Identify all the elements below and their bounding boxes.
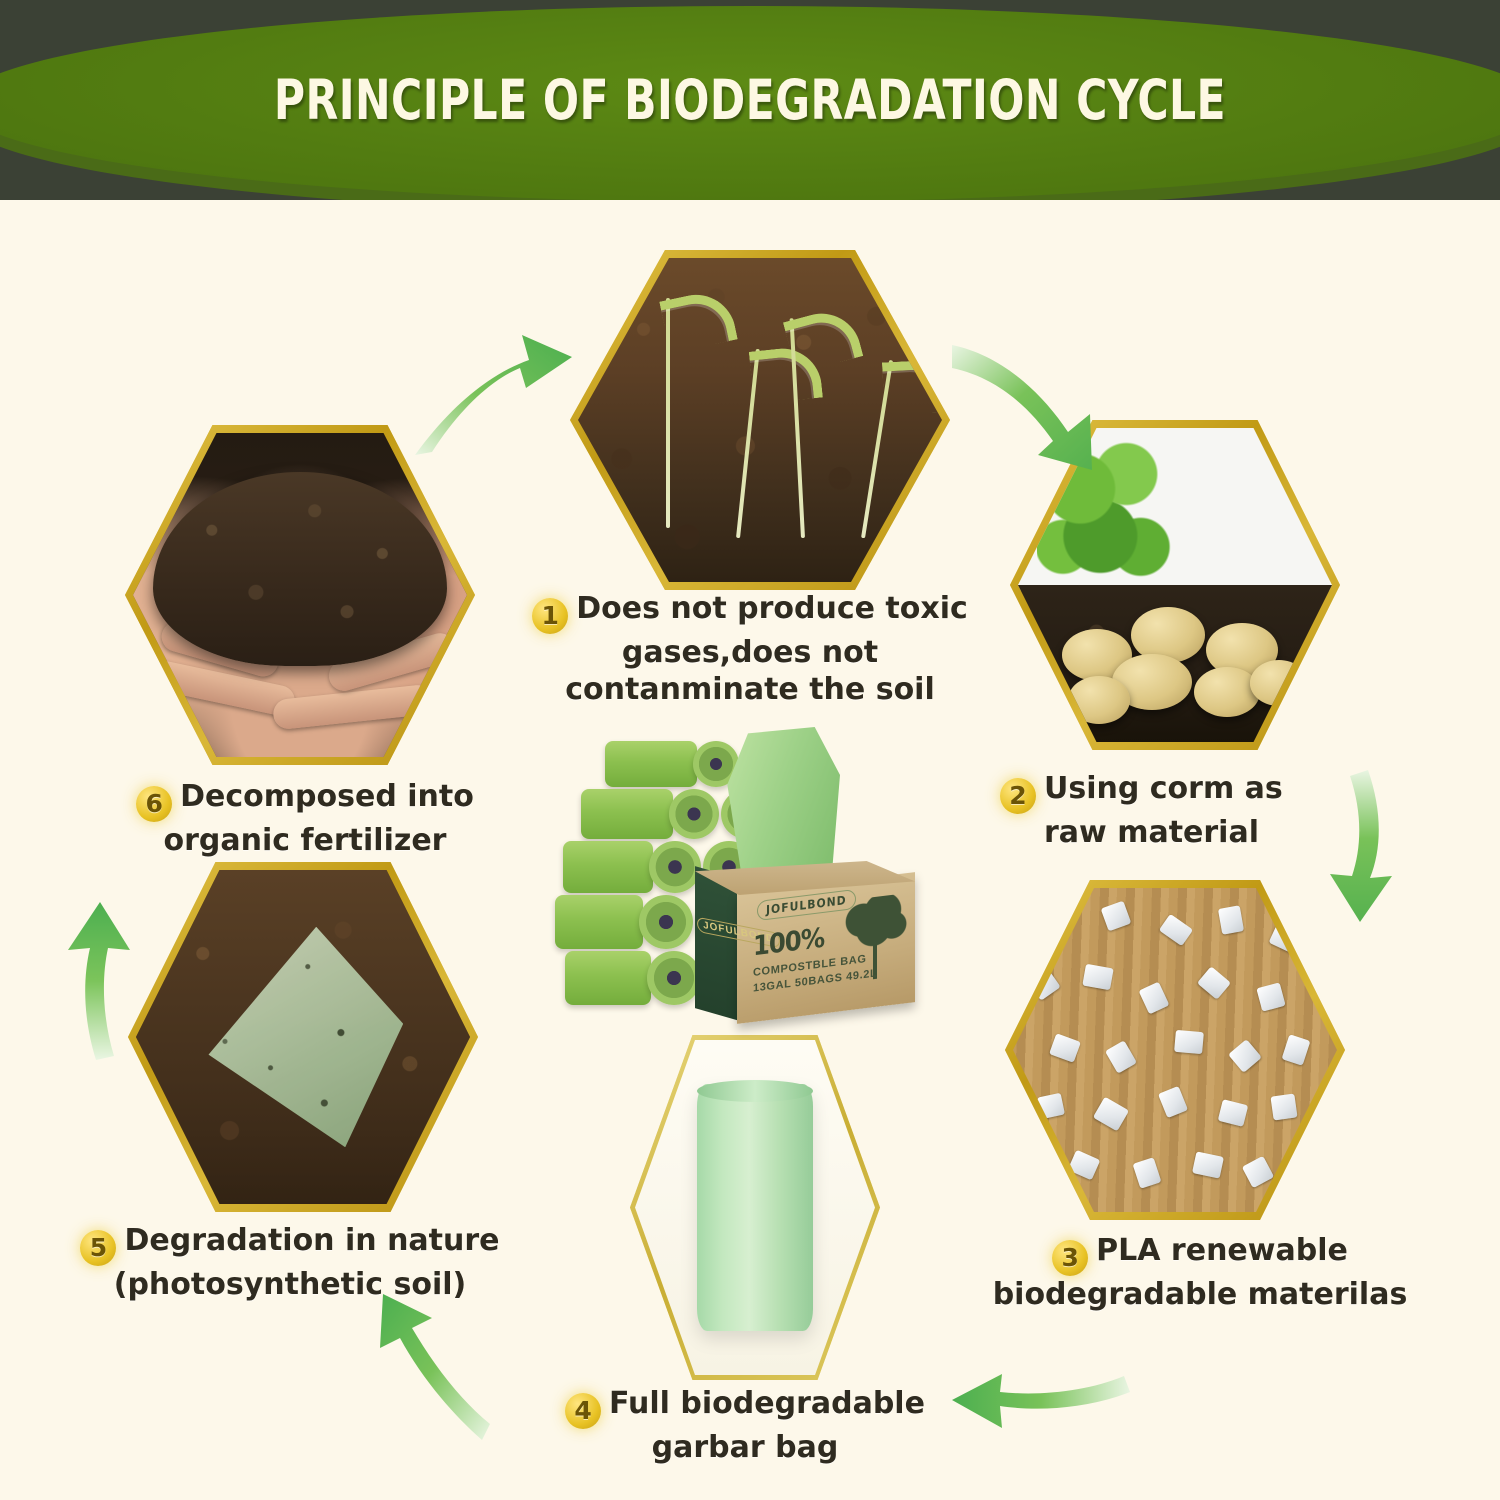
- step-badge-5: 5: [80, 1230, 116, 1266]
- caption-line: PLA renewable: [1096, 1233, 1348, 1268]
- caption-line: gases,does not: [622, 635, 878, 670]
- caption-step-3: 3PLA renewable biodegradable materilas: [980, 1232, 1420, 1313]
- caption-line: Does not produce toxic: [576, 591, 968, 626]
- hexagon-image-2: [1018, 428, 1332, 742]
- step-badge-4: 4: [565, 1393, 601, 1429]
- caption-line: raw material: [1044, 814, 1259, 851]
- product-box: JOFULBOND JOFULBOND 100% COMPOSTBLE BAG …: [695, 865, 915, 1015]
- page-title: PRINCIPLE OF BIODEGRADATION CYCLE: [105, 0, 1395, 200]
- caption-line: Decomposed into: [180, 779, 474, 814]
- arrow-4-to-5: [380, 1294, 490, 1440]
- arrow-5-to-6: [68, 902, 130, 1060]
- infographic-canvas: PRINCIPLE OF BIODEGRADATION CYCLE 1Does …: [0, 0, 1500, 1500]
- caption-step-6: 6Decomposed into organic fertilizer: [100, 778, 510, 859]
- potato-field-photo: [1018, 428, 1332, 742]
- arrow-1-to-2: [952, 345, 1092, 470]
- hexagon-step-4: [630, 1035, 880, 1380]
- product-image: JOFULBOND JOFULBOND 100% COMPOSTBLE BAG …: [555, 735, 945, 1035]
- sprout-icon: [762, 317, 833, 540]
- arrow-6-to-1: [415, 335, 572, 455]
- bag-roll-photo: [635, 1040, 875, 1375]
- hexagon-image-3: [1013, 888, 1337, 1212]
- step-badge-3: 3: [1052, 1240, 1088, 1276]
- caption-line: Using corm as: [1044, 771, 1283, 806]
- caption-line: (photosynthetic soil): [114, 1267, 467, 1302]
- caption-step-4: 4Full biodegradable garbar bag: [530, 1385, 960, 1466]
- hexagon-step-2: [1010, 420, 1340, 750]
- step-badge-1: 1: [532, 598, 568, 634]
- hexagon-step-6: [125, 425, 475, 765]
- caption-step-1: 1Does not produce toxic gases,does not c…: [520, 590, 980, 708]
- hexagon-step-1: [570, 250, 950, 590]
- caption-line: Full biodegradable: [609, 1386, 925, 1421]
- step-badge-2: 2: [1000, 778, 1036, 814]
- sprout-icon: [638, 298, 698, 528]
- pla-pellets-photo: [1013, 888, 1337, 1212]
- caption-line: Degradation in nature: [124, 1223, 499, 1258]
- step-badge-6: 6: [136, 786, 172, 822]
- caption-line: biodegradable materilas: [993, 1277, 1408, 1312]
- caption-line: organic fertilizer: [164, 823, 447, 858]
- hexagon-image-1: [578, 258, 942, 582]
- hexagon-image-6: [133, 433, 467, 757]
- caption-step-2: 2Using corm as raw material: [1000, 770, 1380, 851]
- arrow-3-to-4: [952, 1374, 1130, 1428]
- degrading-bag-photo: [136, 870, 470, 1204]
- hexagon-step-5: [128, 862, 478, 1212]
- caption-line: contanminate the soil: [565, 672, 935, 707]
- caption-step-5: 5Degradation in nature (photosynthetic s…: [70, 1222, 510, 1303]
- caption-line: garbar bag: [652, 1430, 839, 1465]
- open-bag-icon: [725, 727, 840, 887]
- hexagon-image-5: [136, 870, 470, 1204]
- hexagon-image-4: [635, 1040, 875, 1375]
- hexagon-step-3: [1005, 880, 1345, 1220]
- compost-hands-photo: [133, 433, 467, 757]
